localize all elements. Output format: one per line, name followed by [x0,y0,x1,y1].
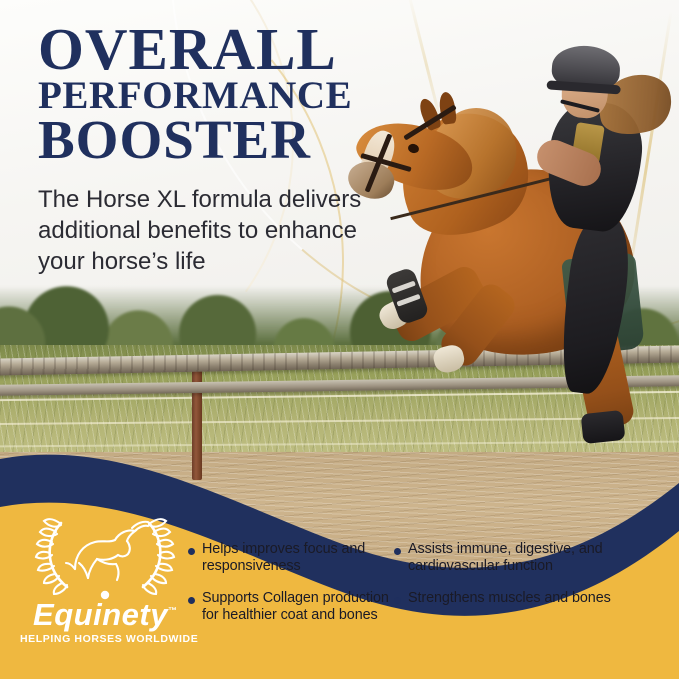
footer-bar: Equinety™ HELPING HORSES WORLDWIDE Helps… [0,499,679,679]
headline-line-3: BOOSTER [38,115,418,166]
brand-name: Equinety [33,597,168,632]
benefit-text: Strengthens muscles and bones [408,590,611,607]
bullet-dot-icon [394,548,401,555]
trademark-symbol: ™ [168,606,177,616]
subheadline-text: The Horse XL formula delivers additional… [38,184,378,278]
advertisement-banner: OVERALL PERFORMANCE BOOSTER The Horse XL… [0,0,679,679]
equinety-wreath-horse-icon [31,509,179,601]
benefits-list: Helps improves focus and responsiveness … [188,541,666,624]
riding-helmet [551,44,622,93]
benefit-item: Assists immune, digestive, and cardiovas… [394,541,666,574]
brand-logo[interactable]: Equinety™ HELPING HORSES WORLDWIDE [20,509,190,645]
headline-block: OVERALL PERFORMANCE BOOSTER The Horse XL… [38,22,418,277]
brand-tagline: HELPING HORSES WORLDWIDE [20,633,190,645]
headline-line-1: OVERALL [38,22,418,76]
benefit-text: Assists immune, digestive, and cardiovas… [408,541,666,574]
benefit-item: Strengthens muscles and bones [394,590,666,623]
benefit-item: Helps improves focus and responsiveness [188,541,394,574]
bullet-dot-icon [188,597,195,604]
benefit-item: Supports Collagen production for healthi… [188,590,394,623]
benefit-text: Supports Collagen production for healthi… [202,590,394,623]
brand-wordmark: Equinety™ [33,599,177,630]
benefit-text: Helps improves focus and responsiveness [202,541,394,574]
bullet-dot-icon [188,548,195,555]
bullet-dot-icon [394,597,401,604]
